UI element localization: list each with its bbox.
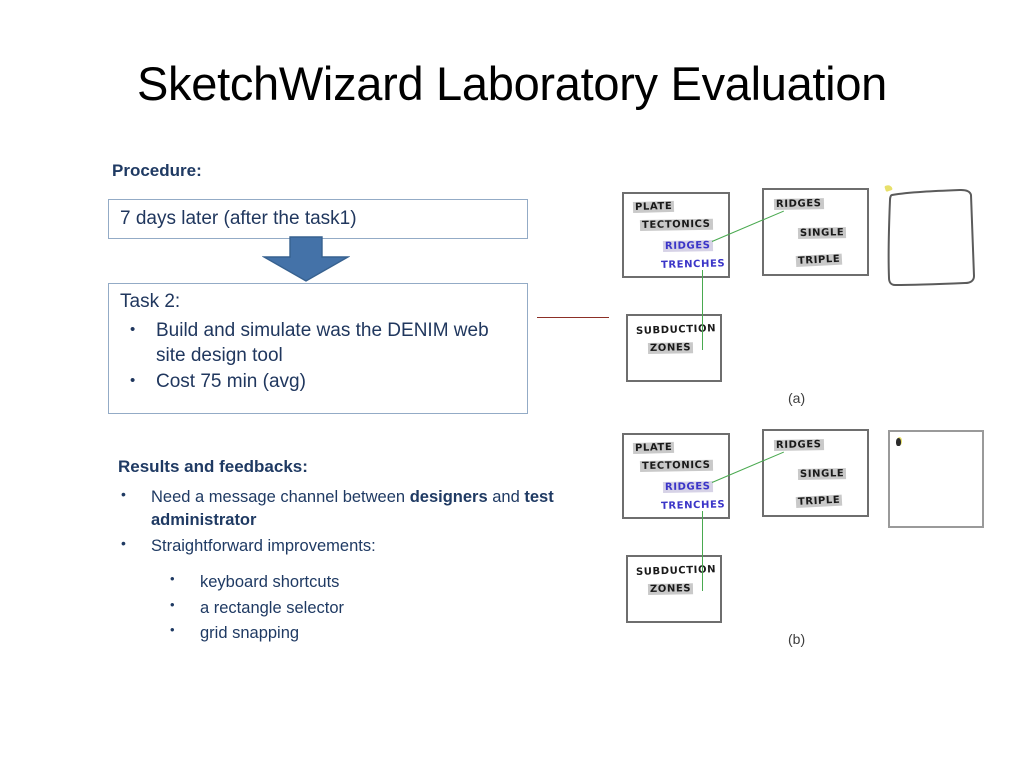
sketch-box-plate-tectonics: PLATE TECTONICS RIDGES TRENCHES — [622, 192, 730, 278]
handwriting-line: ZONES — [648, 342, 693, 354]
handwriting-line: RIDGES — [774, 198, 824, 210]
handwriting-line: RIDGES — [663, 481, 713, 493]
bullet-icon: • — [121, 485, 126, 505]
page-title: SketchWizard Laboratory Evaluation — [0, 58, 1024, 110]
handwriting-line: RIDGES — [774, 439, 824, 451]
handwriting-line: TRENCHES — [661, 499, 726, 512]
sketch-box-subduction-zones: SUBDUCTION ZONES — [626, 555, 722, 623]
list-item-label: grid snapping — [200, 624, 299, 642]
sketch-figure-b: PLATE TECTONICS RIDGES TRENCHES RIDGES S… — [612, 427, 1012, 652]
bullet-icon: • — [170, 595, 175, 615]
clean-rectangle-shape — [888, 430, 984, 528]
sketch-figure-a: PLATE TECTONICS RIDGES TRENCHES RIDGES S… — [612, 186, 1012, 411]
pen-cursor-icon — [896, 438, 901, 446]
handwriting-line: SINGLE — [798, 227, 846, 239]
figure-caption: (a) — [788, 390, 805, 406]
handwriting-line: PLATE — [633, 442, 675, 454]
results-bullet-list: • Need a message channel between designe… — [118, 486, 588, 560]
handwriting-line: TRIPLE — [796, 495, 843, 508]
hand-drawn-rectangle-shape — [884, 184, 984, 299]
task1-text: 7 days later (after the task1) — [120, 208, 357, 230]
green-link-line — [702, 270, 703, 350]
list-item-label: Build and simulate was the DENIM web sit… — [156, 320, 489, 366]
red-connector-line — [537, 317, 609, 318]
results-heading: Results and feedbacks: — [118, 457, 308, 477]
list-item: • grid snapping — [168, 621, 498, 647]
handwriting-line: TECTONICS — [640, 460, 713, 472]
emphasis-designers: designers — [410, 488, 488, 506]
handwriting-line: ZONES — [648, 583, 693, 595]
task2-title: Task 2: — [120, 291, 180, 313]
handwriting-line: PLATE — [633, 201, 675, 213]
list-item: • Cost 75 min (avg) — [120, 369, 520, 394]
task1-box: 7 days later (after the task1) — [108, 199, 528, 239]
slide-canvas: SketchWizard Laboratory Evaluation Proce… — [0, 0, 1024, 768]
handwriting-line: TECTONICS — [640, 219, 713, 231]
bullet-icon: • — [170, 569, 175, 589]
bullet-icon: • — [121, 534, 126, 554]
sketch-box-ridges: RIDGES SINGLE TRIPLE — [762, 429, 869, 517]
handwriting-line: TRIPLE — [796, 254, 843, 267]
handwriting-line: RIDGES — [663, 240, 713, 252]
list-item: • a rectangle selector — [168, 596, 498, 622]
bullet-icon: • — [130, 318, 135, 341]
list-item-label: a rectangle selector — [200, 599, 344, 617]
list-item: • Need a message channel between designe… — [118, 486, 588, 533]
handwriting-line: TRENCHES — [661, 258, 726, 271]
results-sub-bullet-list: • keyboard shortcuts • a rectangle selec… — [168, 570, 498, 647]
list-item: • Build and simulate was the DENIM web s… — [120, 318, 520, 368]
list-item-text: Need a message channel between designers… — [151, 488, 554, 529]
handwriting-line: SUBDUCTION — [636, 323, 716, 337]
bullet-icon: • — [170, 620, 175, 640]
list-item-label: keyboard shortcuts — [200, 573, 339, 591]
procedure-heading: Procedure: — [112, 161, 202, 181]
figure-caption: (b) — [788, 631, 805, 647]
list-item: • Straightforward improvements: — [118, 535, 588, 558]
task2-box: Task 2: • Build and simulate was the DEN… — [108, 283, 528, 414]
task2-bullet-list: • Build and simulate was the DENIM web s… — [120, 318, 520, 395]
sketch-box-ridges: RIDGES SINGLE TRIPLE — [762, 188, 869, 276]
list-item-label: Cost 75 min (avg) — [156, 371, 306, 392]
list-item-label: Straightforward improvements: — [151, 537, 376, 555]
handwriting-line: SUBDUCTION — [636, 564, 716, 578]
down-arrow-icon — [262, 236, 350, 282]
sketch-box-plate-tectonics: PLATE TECTONICS RIDGES TRENCHES — [622, 433, 730, 519]
green-link-line — [702, 511, 703, 591]
sketch-box-subduction-zones: SUBDUCTION ZONES — [626, 314, 722, 382]
handwriting-line: SINGLE — [798, 468, 846, 480]
bullet-icon: • — [130, 369, 135, 392]
list-item: • keyboard shortcuts — [168, 570, 498, 596]
